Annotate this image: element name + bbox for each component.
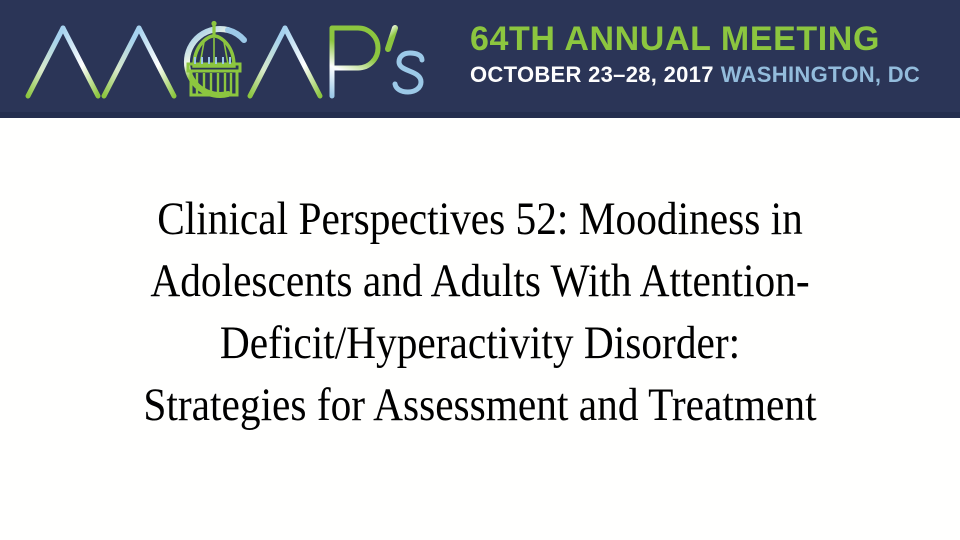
title-line: Deficit/Hyperactivity Disorder: (58, 312, 903, 374)
title-line: Strategies for Assessment and Treatment (58, 374, 903, 436)
aacaps-wordmark-logo (18, 12, 438, 108)
logo-letter-p (332, 28, 378, 96)
meeting-title: 64TH ANNUAL MEETING (470, 20, 948, 58)
logo-letter-a-3 (250, 28, 320, 96)
meeting-info: 64TH ANNUAL MEETING OCTOBER 23–28, 2017W… (470, 20, 948, 87)
logo-apostrophe (388, 28, 395, 49)
capitol-dome-icon (187, 21, 244, 95)
logo-letter-a-1 (28, 28, 98, 96)
conference-banner: 64TH ANNUAL MEETING OCTOBER 23–28, 2017W… (0, 0, 960, 118)
logo-letter-a-2 (104, 28, 174, 96)
page-title: Clinical Perspectives 52: Moodiness in A… (0, 188, 960, 436)
title-line: Adolescents and Adults With Attention- (58, 250, 903, 312)
meeting-subline: OCTOBER 23–28, 2017WASHINGTON, DC (470, 63, 948, 87)
meeting-city: WASHINGTON, DC (721, 62, 920, 87)
banner-bottom-edge (0, 112, 960, 118)
logo-letter-s (395, 53, 422, 92)
title-line: Clinical Perspectives 52: Moodiness in (58, 188, 903, 250)
presentation-slide: 64TH ANNUAL MEETING OCTOBER 23–28, 2017W… (0, 0, 960, 540)
meeting-dates: OCTOBER 23–28, 2017 (470, 62, 714, 87)
